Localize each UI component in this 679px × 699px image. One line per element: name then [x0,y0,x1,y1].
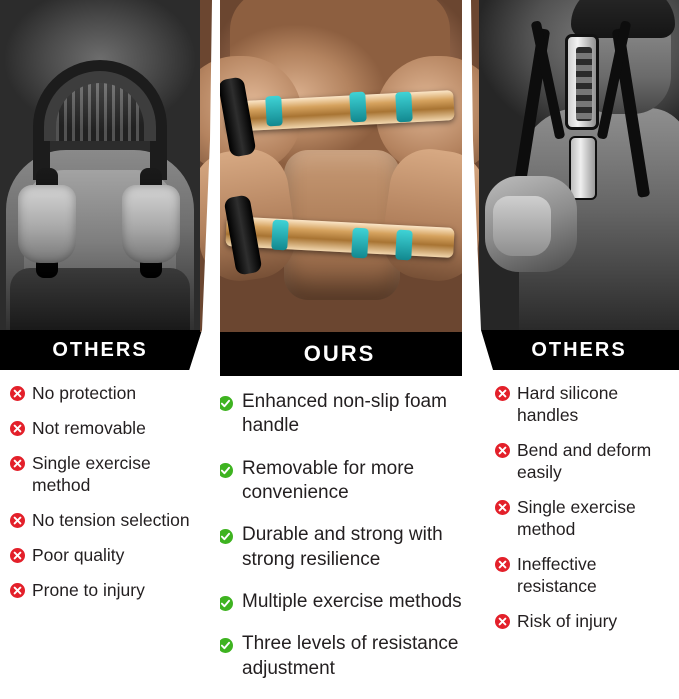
list-item: No protection [10,382,192,404]
feature-list-middle: Enhanced non-slip foam handle Removable … [200,376,479,699]
photo-waist-shape [10,268,190,330]
feature-text: Risk of injury [517,610,617,632]
feature-text: No protection [32,382,136,404]
label-bar-left: OTHERS [0,330,200,370]
product-comparison-infographic: OTHERS No protection Not removable Singl… [0,0,679,679]
label-text-middle: OURS [304,341,376,367]
photo-glove-left-shape [18,185,76,263]
feature-text: Durable and strong with strong resilienc… [242,523,463,572]
feature-text: Hard silicone handles [517,382,671,426]
cross-icon [495,557,510,572]
photo-fist-shape [493,196,551,256]
comparison-column-right: OTHERS Hard silicone handles Bend and de… [479,0,679,679]
cross-icon [495,500,510,515]
feature-text: Ineffective resistance [517,553,671,597]
list-item: Single exercise method [10,452,192,496]
label-text-right: OTHERS [531,339,626,362]
feature-text: Poor quality [32,544,124,566]
comparison-column-middle: OURS Enhanced non-slip foam handle Remov… [200,0,479,679]
feature-text: Single exercise method [517,496,671,540]
photo-teal-ring [265,96,283,127]
list-item: Prone to injury [10,579,192,601]
list-item: Bend and deform easily [495,439,671,483]
cross-icon [495,614,510,629]
cross-icon [10,456,25,471]
list-item: Removable for more convenience [218,457,463,506]
photo-teal-ring [271,220,289,251]
photo-teal-ring [349,92,367,123]
check-icon [218,596,233,611]
photo-machine-hinge [569,136,597,200]
feature-text: No tension selection [32,509,190,531]
photo-teal-ring [395,92,413,123]
list-item: No tension selection [10,509,192,531]
list-item: Not removable [10,417,192,439]
cross-icon [495,386,510,401]
label-bar-middle: OURS [200,332,479,376]
feature-list-left: No protection Not removable Single exerc… [0,370,200,614]
feature-text: Enhanced non-slip foam handle [242,390,463,439]
feature-list-right: Hard silicone handles Bend and deform ea… [479,370,679,645]
ours-product-photo [200,0,479,332]
check-icon [218,396,233,411]
competitor-left-photo [0,0,200,330]
feature-text: Prone to injury [32,579,145,601]
feature-text: Three levels of resistance adjustment [242,632,463,681]
cross-icon [10,583,25,598]
list-item: Poor quality [10,544,192,566]
cross-icon [10,548,25,563]
list-item: Enhanced non-slip foam handle [218,390,463,439]
cross-icon [10,386,25,401]
list-item: Hard silicone handles [495,382,671,426]
check-icon [218,529,233,544]
list-item: Three levels of resistance adjustment [218,632,463,681]
cross-icon [10,421,25,436]
cross-icon [10,513,25,528]
feature-text: Removable for more convenience [242,457,463,506]
check-icon [218,638,233,653]
list-item: Multiple exercise methods [218,590,463,614]
photo-teal-ring [395,230,413,261]
list-item: Ineffective resistance [495,553,671,597]
cross-icon [495,443,510,458]
feature-text: Bend and deform easily [517,439,671,483]
photo-glove-right-shape [122,185,180,263]
list-item: Risk of injury [495,610,671,632]
photo-teal-ring [351,228,369,259]
feature-text: Single exercise method [32,452,192,496]
label-text-left: OTHERS [52,339,147,362]
feature-text: Multiple exercise methods [242,590,462,614]
check-icon [218,463,233,478]
label-bar-right: OTHERS [479,330,679,370]
list-item: Durable and strong with strong resilienc… [218,523,463,572]
comparison-column-left: OTHERS No protection Not removable Singl… [0,0,200,679]
photo-machine-cylinder [565,34,599,130]
competitor-right-photo [479,0,679,330]
feature-text: Not removable [32,417,146,439]
list-item: Single exercise method [495,496,671,540]
